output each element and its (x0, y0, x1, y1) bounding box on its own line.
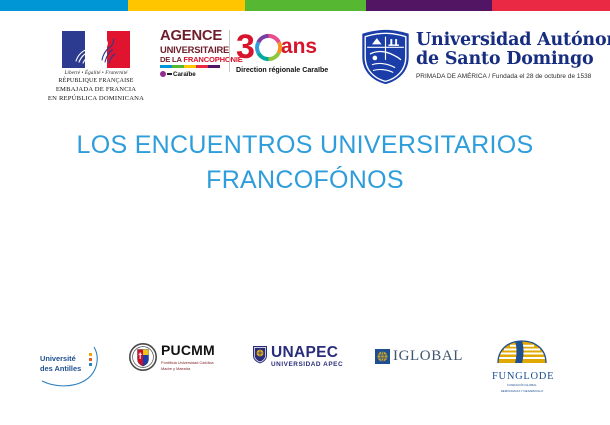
unapec-logo: UNAPEC UNIVERSIDAD APEC (252, 345, 352, 375)
auf-region-marker: Caraïbe (160, 71, 222, 78)
embassy-devise: Liberté • Égalité • Fraternité (44, 70, 148, 76)
french-embassy-logo: Liberté • Égalité • Fraternité RÉPUBLIQU… (44, 31, 148, 103)
antilles-accent-bars-icon (89, 353, 92, 368)
uasd-subtitle: PRIMADA DE AMÉRICA / Fundada el 28 de oc… (416, 73, 610, 80)
antilles-line-1: Université (40, 354, 81, 364)
auf-word-universitaire: UNIVERSITAIRE (160, 45, 222, 54)
auf-francophonie-text: FRANCOPHONIE (183, 55, 242, 64)
unapec-acronym: UNAPEC (271, 345, 343, 361)
pucmm-wordmark: PUCMM Pontificia Universidad Católica Ma… (161, 343, 215, 371)
unapec-shield-icon (252, 345, 268, 364)
pucmm-sub-2: Madre y Maestra (161, 366, 215, 371)
header-logo-row: Liberté • Égalité • Fraternité RÉPUBLIQU… (0, 11, 610, 103)
auf-dot-icon (160, 71, 166, 77)
footer-logo-row: Université des Antilles PUCMM Pontificia… (0, 335, 610, 425)
decorative-color-bar (0, 0, 610, 11)
embassy-republic-label: RÉPUBLIQUE FRANÇAISE (44, 78, 148, 84)
funglode-acronym: FUNGLODE (492, 371, 552, 382)
funglode-sub-2: DEMOCRACIA Y DESARROLLO (492, 390, 552, 394)
funglode-logo: FUNGLODE FUNDACIÓN GLOBAL DEMOCRACIA Y D… (492, 339, 552, 394)
color-bar-segment-red (492, 0, 610, 11)
unapec-subtitle: UNIVERSIDAD APEC (271, 361, 343, 369)
color-bar-segment-green (245, 0, 366, 11)
pucmm-logo: PUCMM Pontificia Universidad Católica Ma… (129, 341, 229, 381)
iglobal-globe-icon (375, 349, 390, 364)
funglode-dome-icon (494, 339, 550, 365)
auf-rainbow-ring-icon (254, 33, 283, 62)
funglode-sub-1: FUNDACIÓN GLOBAL (492, 384, 552, 388)
auf-logo: AGENCE UNIVERSITAIRE DE LA FRANCOPHONIE … (160, 29, 325, 89)
universite-des-antilles-logo: Université des Antilles (32, 345, 110, 391)
auf-anniversary-number: 3 (236, 32, 255, 62)
page-title: LOS ENCUENTROS UNIVERSITARIOS FRANCOFÓNO… (0, 128, 610, 198)
auf-dash-icon (167, 73, 172, 75)
antilles-line-2: des Antilles (40, 364, 81, 374)
auf-tagline: Direction régionale Caraïbe (236, 66, 328, 74)
auf-anniversary-unit: ans (281, 35, 317, 59)
auf-word-agence: AGENCE (160, 29, 223, 44)
auf-region-label: Caraïbe (173, 71, 196, 78)
color-bar-segment-purple (366, 0, 492, 11)
embassy-line-1: EMBAJADA DE FRANCIA (44, 86, 148, 95)
color-bar-segment-yellow (128, 0, 245, 11)
uasd-line-1: Universidad Autónoma (416, 31, 610, 50)
page-title-line-1: LOS ENCUENTROS UNIVERSITARIOS (0, 128, 610, 163)
page-title-line-2: FRANCOFÓNOS (0, 163, 610, 198)
french-flag-marianne-icon (62, 31, 130, 68)
auf-word-francophonie: DE LA FRANCOPHONIE (160, 56, 222, 64)
pucmm-seal-icon (129, 342, 157, 372)
pucmm-sub-1: Pontificia Universidad Católica (161, 360, 215, 365)
uasd-seal-icon (358, 28, 413, 86)
auf-dela-text: DE LA (160, 55, 183, 64)
uasd-line-2: de Santo Domingo (416, 50, 610, 69)
color-bar-segment-blue (0, 0, 128, 11)
iglobal-acronym: IGLOBAL (393, 348, 463, 365)
embassy-line-2: EN REPÚBLICA DOMINICANA (44, 95, 148, 104)
auf-anniversary-block: 3 ans Dire (236, 29, 328, 74)
auf-wordmark: AGENCE UNIVERSITAIRE DE LA FRANCOPHONIE … (160, 29, 222, 78)
antilles-wordmark: Université des Antilles (40, 354, 81, 373)
auf-color-bar-icon (160, 65, 220, 68)
uasd-wordmark: Universidad Autónoma de Santo Domingo PR… (416, 31, 610, 80)
uasd-logo: Universidad Autónoma de Santo Domingo PR… (358, 28, 588, 90)
pucmm-acronym: PUCMM (161, 343, 215, 358)
iglobal-logo: IGLOBAL (375, 348, 463, 365)
unapec-wordmark: UNAPEC UNIVERSIDAD APEC (271, 345, 343, 369)
auf-divider (229, 30, 230, 72)
